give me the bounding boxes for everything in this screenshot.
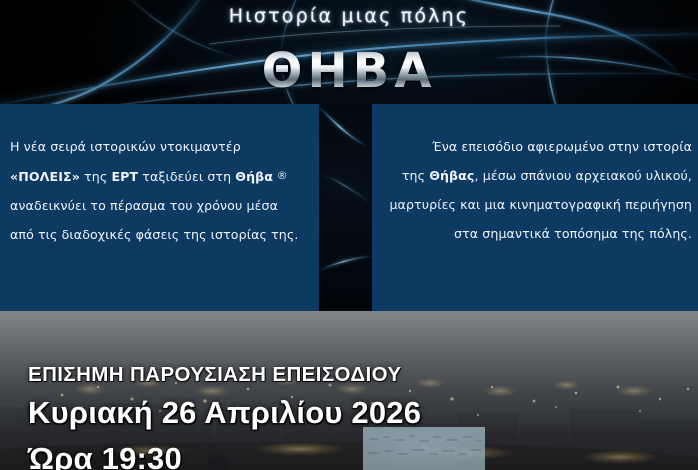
event-heading: ΕΠΙΣΗΜΗ ΠΑΡΟΥΣΙΑΣΗ ΕΠΕΙΣΟΔΙΟΥ: [28, 363, 401, 387]
poster: Ηιστορία μιας πόλης ΘΗΒΑ: [0, 0, 698, 470]
hero-section: Ηιστορία μιας πόλης ΘΗΒΑ: [0, 0, 698, 112]
right-panel-line: μαρτυρίες και μια κινηματογραφική περιήγ…: [382, 190, 692, 219]
right-description-panel: Ένα επεισόδιο αφιερωμένο στην ιστορία τη…: [372, 104, 698, 312]
registered-mark-icon: ®: [273, 169, 288, 182]
hero-title: ΘΗΒΑ: [0, 47, 698, 95]
right-line-1-text: Ένα επεισόδιο αφιερωμένο στην ιστορία: [432, 139, 692, 154]
hero-subtitle: Ηιστορία μιας πόλης: [0, 5, 698, 27]
broadcaster-name: ΕΡΤ: [111, 169, 138, 184]
event-time: Ώρα 19:30: [28, 441, 182, 470]
left-line-3-text: αναδεικνύει το πέρασμα του χρόνου μέσα: [10, 198, 278, 213]
left-line-4-text: από τις διαδοχικές φάσεις της ιστορίας τ…: [10, 227, 298, 242]
left-panel-line: Η νέα σειρά ιστορικών ντοκιμαντέρ: [10, 132, 305, 161]
right-line-4-text: στα σημαντικά τοπόσημα της πόλης.: [454, 226, 692, 241]
right-panel-line: της Θήβας, μέσω σπάνιου αρχειακού υλικού…: [382, 161, 692, 190]
description-band: Η νέα σειρά ιστορικών ντοκιμαντέρ «ΠΟΛΕΙ…: [0, 104, 698, 312]
right-line-2-connector-a: της: [402, 168, 429, 183]
left-line-2-connector-a: της: [80, 169, 111, 184]
left-description-panel: Η νέα σειρά ιστορικών ντοκιμαντέρ «ΠΟΛΕΙ…: [0, 104, 319, 312]
event-photo-section: ΕΠΙΣΗΜΗ ΠΑΡΟΥΣΙΑΣΗ ΕΠΕΙΣΟΔΙΟΥ Κυριακή 26…: [0, 311, 698, 470]
series-name: «ΠΟΛΕΙΣ»: [10, 169, 80, 184]
event-date: Κυριακή 26 Απριλίου 2026: [28, 395, 421, 431]
city-name-genitive: Θήβας: [429, 168, 474, 183]
left-panel-line: αναδεικνύει το πέρασμα του χρόνου μέσα: [10, 191, 305, 220]
city-name: Θήβα: [235, 169, 273, 184]
left-line-2-connector-b: ταξιδεύει στη: [138, 169, 235, 184]
right-panel-line: στα σημαντικά τοπόσημα της πόλης.: [382, 219, 692, 248]
event-details: ΕΠΙΣΗΜΗ ΠΑΡΟΥΣΙΑΣΗ ΕΠΕΙΣΟΔΙΟΥ Κυριακή 26…: [0, 311, 698, 470]
left-panel-line: «ΠΟΛΕΙΣ» της ΕΡΤ ταξιδεύει στη Θήβα ®: [10, 161, 305, 191]
left-line-1-text: Η νέα σειρά ιστορικών ντοκιμαντέρ: [10, 139, 241, 154]
right-panel-line: Ένα επεισόδιο αφιερωμένο στην ιστορία: [382, 132, 692, 161]
right-line-3-text: μαρτυρίες και μια κινηματογραφική περιήγ…: [389, 197, 692, 212]
right-line-2-connector-b: , μέσω σπάνιου αρχειακού υλικού,: [475, 168, 693, 183]
left-panel-line: από τις διαδοχικές φάσεις της ιστορίας τ…: [10, 220, 305, 249]
